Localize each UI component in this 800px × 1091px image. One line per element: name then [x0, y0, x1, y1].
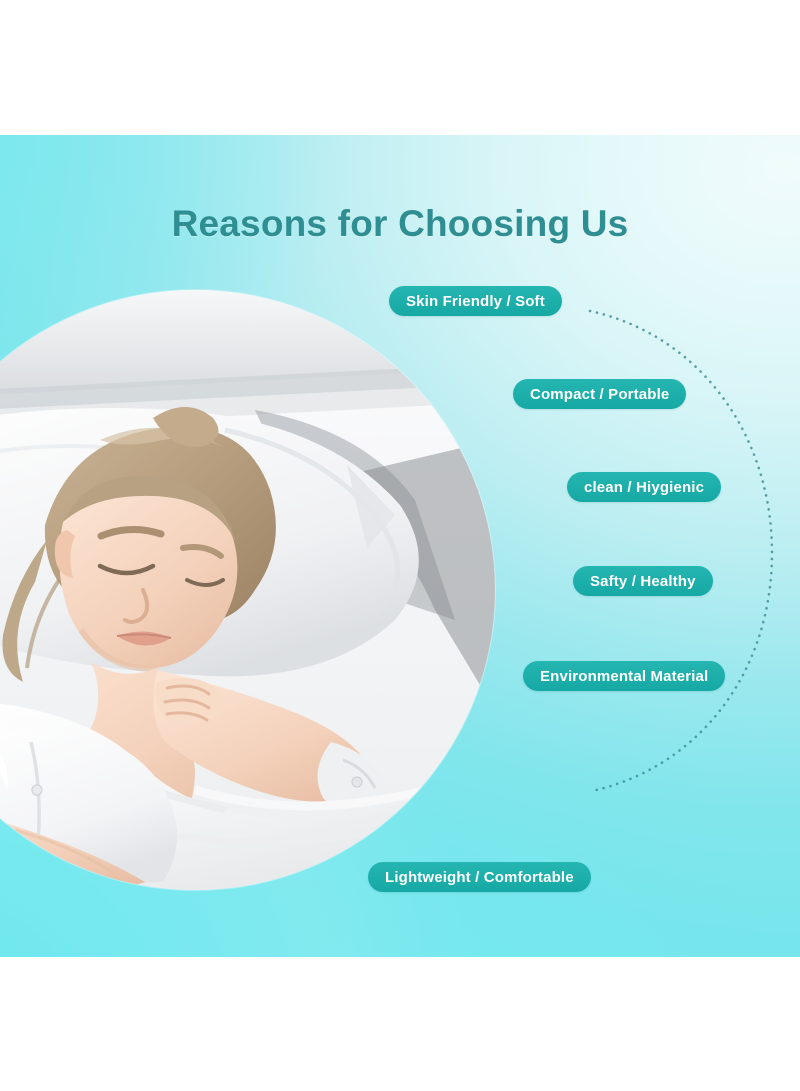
feature-pill-label: Lightweight / Comfortable: [385, 869, 574, 886]
feature-pill-safety-healthy[interactable]: Safty / Healthy: [573, 566, 713, 596]
feature-pill-skin-friendly[interactable]: Skin Friendly / Soft: [389, 286, 562, 316]
feature-pill-label: clean / Hiygienic: [584, 479, 704, 496]
feature-pill-label: Safty / Healthy: [590, 573, 696, 590]
feature-pill-compact-portable[interactable]: Compact / Portable: [513, 379, 686, 409]
feature-pill-label: Skin Friendly / Soft: [406, 293, 545, 310]
feature-pill-lightweight-comfortable[interactable]: Lightweight / Comfortable: [368, 862, 591, 892]
feature-pill-clean-hygienic[interactable]: clean / Hiygienic: [567, 472, 721, 502]
feature-pill-label: Environmental Material: [540, 668, 708, 685]
feature-pill-label: Compact / Portable: [530, 386, 669, 403]
promo-banner-page: Reasons for Choosing Us: [0, 0, 800, 1091]
page-title: Reasons for Choosing Us: [0, 203, 800, 245]
feature-pill-environmental-material[interactable]: Environmental Material: [523, 661, 725, 691]
